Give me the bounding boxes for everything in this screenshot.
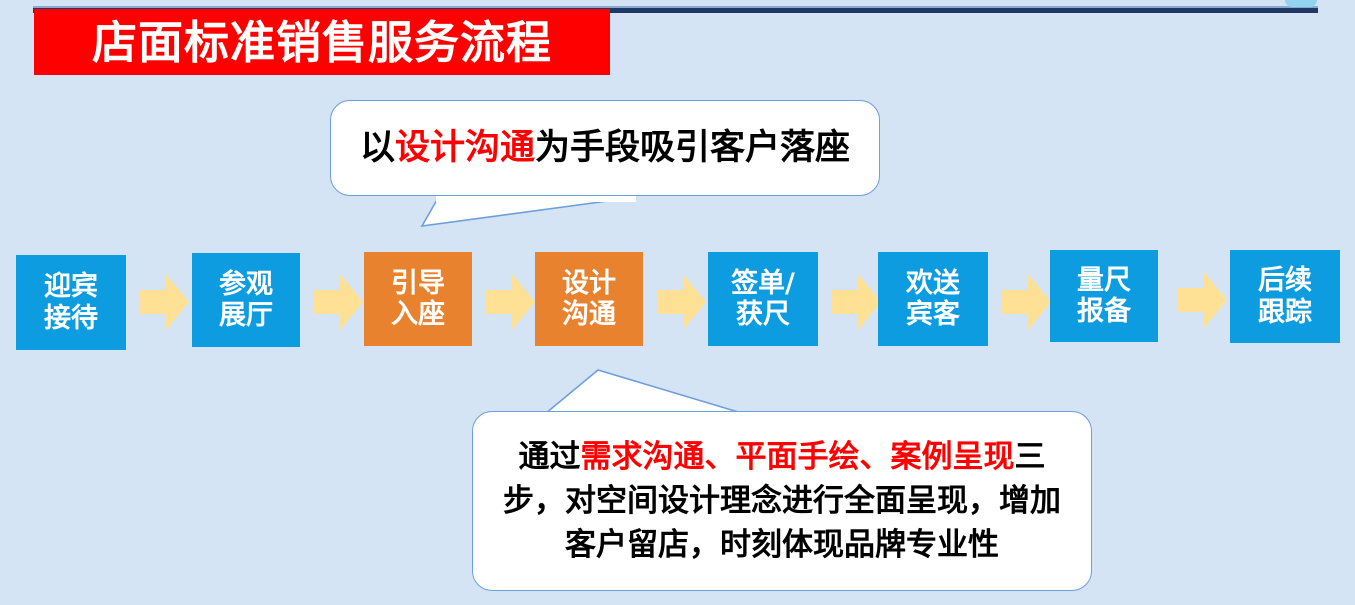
callout-bottom-text: 通过需求沟通、平面手绘、案例呈现三步，对空间设计理念进行全面呈现，增加客户留店，…	[495, 435, 1069, 567]
process-step-5-line2: 获尺	[736, 299, 790, 330]
callout-bottom: 通过需求沟通、平面手绘、案例呈现三步，对空间设计理念进行全面呈现，增加客户留店，…	[472, 411, 1092, 591]
process-step-6[interactable]: 欢送 宾客	[878, 252, 988, 346]
process-step-7-line1: 量尺	[1077, 265, 1131, 296]
flow-arrow-3	[486, 272, 536, 332]
process-step-4-line2: 沟通	[562, 299, 616, 330]
callout-bottom-line1-suffix: 三	[1015, 439, 1046, 475]
process-step-6-line1: 欢送	[906, 268, 960, 299]
process-step-3-line2: 入座	[391, 299, 445, 330]
flow-arrow-1	[140, 272, 190, 332]
process-step-2-line2: 展厅	[219, 300, 273, 331]
process-step-1-line2: 接待	[44, 303, 98, 334]
callout-bottom-prefix: 通过	[519, 439, 581, 475]
slide-canvas: 店面标准销售服务流程 以设计沟通为手段吸引客户落座 迎宾 接待 参观 展厅 引导	[0, 0, 1355, 605]
process-step-7-line2: 报备	[1077, 296, 1131, 327]
flow-arrow-4	[657, 272, 707, 332]
process-step-2[interactable]: 参观 展厅	[192, 253, 300, 347]
callout-bottom-line2: 步，对空间设计理念进行全面呈现，增	[503, 483, 1030, 519]
callout-bottom-highlight: 需求沟通、平面手绘、案例呈现	[581, 439, 1015, 475]
process-step-8[interactable]: 后续 跟踪	[1230, 250, 1340, 343]
flow-arrow-7	[1178, 270, 1228, 330]
process-step-6-line2: 宾客	[906, 299, 960, 330]
process-step-8-line2: 跟踪	[1258, 297, 1312, 328]
process-step-2-line1: 参观	[219, 269, 273, 300]
flow-arrow-5	[832, 272, 882, 332]
process-step-1[interactable]: 迎宾 接待	[16, 255, 126, 350]
process-step-8-line1: 后续	[1258, 265, 1312, 296]
process-step-5[interactable]: 签单/ 获尺	[708, 252, 818, 346]
process-step-7[interactable]: 量尺 报备	[1050, 250, 1158, 342]
process-step-3-line1: 引导	[391, 268, 445, 299]
process-step-5-line1: 签单/	[731, 268, 795, 299]
process-step-4-line1: 设计	[562, 268, 616, 299]
flow-arrow-2	[314, 272, 364, 332]
process-step-3[interactable]: 引导 入座	[364, 252, 472, 346]
flow-arrow-6	[1002, 272, 1052, 332]
process-step-4[interactable]: 设计 沟通	[535, 252, 643, 346]
process-step-1-line1: 迎宾	[44, 271, 98, 302]
